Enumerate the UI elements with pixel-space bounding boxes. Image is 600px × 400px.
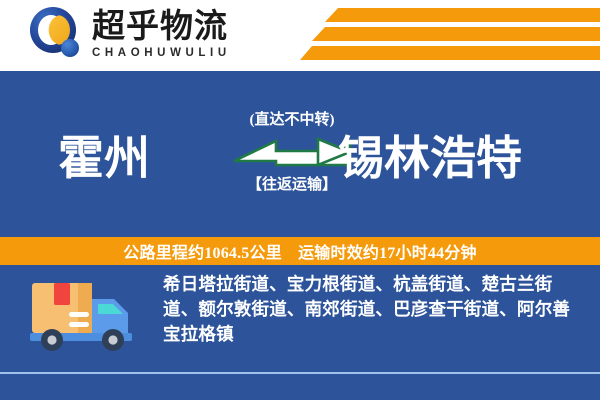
double-headed-arrow-icon <box>232 135 352 171</box>
logistics-route-poster: 超乎物流 CHAOHUWULIU 霍州 (直达不中转) 【往返运输】 锡林浩特 <box>0 0 600 400</box>
distance-duration-text: 公路里程约1064.5公里 运输时效约17小时44分钟 <box>123 239 476 263</box>
route-arrow-block: (直达不中转) 【往返运输】 <box>228 111 356 226</box>
brand-name-en: CHAOHUWULIU <box>92 46 231 60</box>
route-row: 霍州 (直达不中转) 【往返运输】 锡林浩特 <box>0 71 600 237</box>
destination-city-label: 锡林浩特 <box>338 133 522 185</box>
brand-logo: 超乎物流 CHAOHUWULIU <box>28 6 231 64</box>
brand-text-group: 超乎物流 CHAOHUWULIU <box>92 10 231 60</box>
direct-service-note: (直达不中转) <box>228 111 356 129</box>
poster-header: 超乎物流 CHAOHUWULIU <box>0 0 600 71</box>
brand-name-cn: 超乎物流 <box>92 10 231 44</box>
delivery-truck-icon <box>28 277 140 357</box>
logo-dot-shape <box>61 39 79 57</box>
route-panel: 霍州 (直达不中转) 【往返运输】 锡林浩特 <box>0 71 600 237</box>
coverage-panel: 希日塔拉街道、宝力根街道、杭盖街道、楚古兰街道、额尔敦街道、南郊街道、巴彦查干街… <box>0 265 600 372</box>
origin-city-label: 霍州 <box>58 133 150 185</box>
footer-band <box>0 374 600 400</box>
coverage-streets-text: 希日塔拉街道、宝力根街道、杭盖街道、楚古兰街道、额尔敦街道、南郊街道、巴彦查干街… <box>163 272 581 347</box>
orange-speed-stripes-icon <box>300 8 600 64</box>
distance-duration-band: 公路里程约1064.5公里 运输时效约17小时44分钟 <box>0 237 600 265</box>
round-trip-note: 【往返运输】 <box>228 176 356 194</box>
circle-crescent-logo-icon <box>28 6 86 64</box>
